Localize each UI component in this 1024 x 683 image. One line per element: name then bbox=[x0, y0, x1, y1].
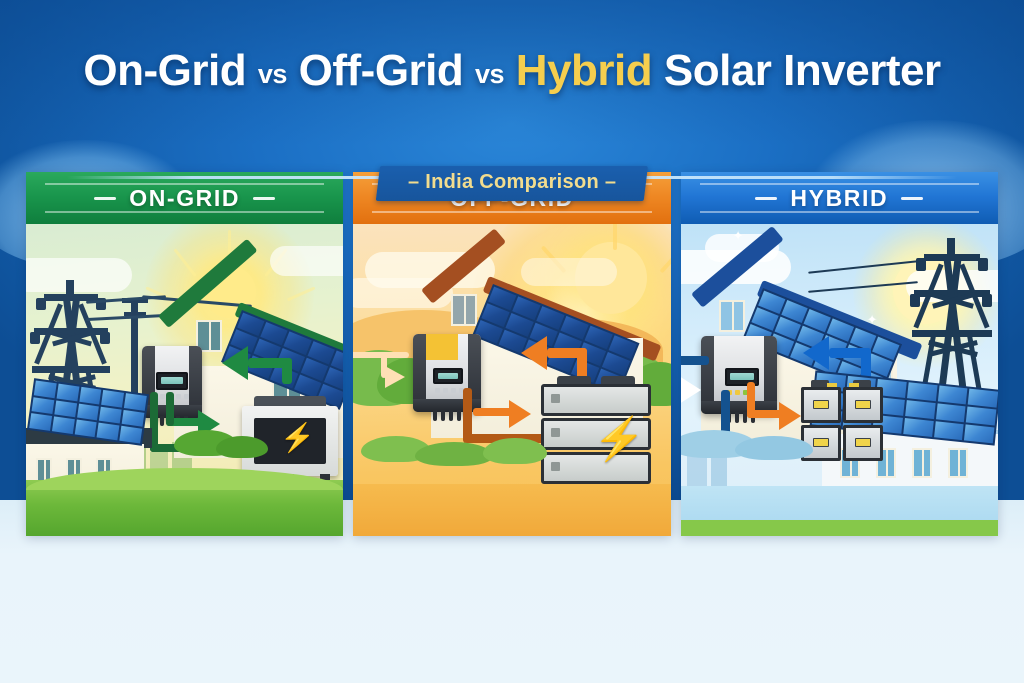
inverter-icon bbox=[701, 336, 777, 414]
flow-arrow-to-house bbox=[803, 336, 829, 370]
scene-hybrid: ✦ ✦ bbox=[681, 224, 998, 536]
title-part-off-grid: Off-Grid bbox=[299, 46, 464, 95]
banner-dash-left bbox=[755, 197, 777, 200]
title-part-vs-2: vs bbox=[475, 59, 504, 89]
lightning-bolt-icon: ⚡ bbox=[280, 424, 315, 452]
banner-dash-right bbox=[901, 197, 923, 200]
comparison-panels: ON-GRID bbox=[26, 172, 998, 536]
banner-dash-left bbox=[94, 197, 116, 200]
header: On-Grid vs Off-Grid vs Hybrid Solar Inve… bbox=[0, 48, 1024, 95]
window-icon bbox=[912, 448, 932, 478]
panel-title-on-grid: ON-GRID bbox=[129, 185, 240, 212]
title-part-vs-1: vs bbox=[258, 59, 287, 89]
panel-off-grid[interactable]: OFF-GRID bbox=[353, 172, 670, 536]
battery-stack-icon: ⚡ bbox=[541, 376, 651, 492]
title-part-solar-inverter: Solar Inverter bbox=[664, 46, 941, 95]
subtitle-text: – India Comparison – bbox=[408, 171, 616, 194]
scene-off-grid: ⚡ bbox=[353, 224, 670, 536]
panel-hybrid[interactable]: HYBRID ✦ ✦ bbox=[681, 172, 998, 536]
ground bbox=[353, 484, 670, 536]
lightning-bolt-icon: ⚡ bbox=[593, 418, 645, 460]
battery-bank-icon bbox=[801, 380, 883, 462]
panel-banner-hybrid: HYBRID bbox=[681, 172, 998, 224]
page-title: On-Grid vs Off-Grid vs Hybrid Solar Inve… bbox=[0, 48, 1024, 95]
window-icon bbox=[451, 294, 477, 326]
panel-banner-on-grid: ON-GRID bbox=[26, 172, 343, 224]
scene-on-grid: ⚡ bbox=[26, 224, 343, 536]
ground bbox=[26, 480, 343, 536]
flow-arrow-inbound bbox=[385, 366, 405, 388]
panel-title-hybrid: HYBRID bbox=[790, 185, 888, 212]
subtitle-badge: – India Comparison – bbox=[376, 166, 649, 201]
window-icon bbox=[719, 300, 745, 332]
flow-arrow-to-house bbox=[521, 336, 547, 370]
flow-arrow-to-house bbox=[222, 346, 248, 380]
infographic-canvas: On-Grid vs Off-Grid vs Hybrid Solar Inve… bbox=[0, 0, 1024, 683]
title-part-hybrid: Hybrid bbox=[516, 46, 652, 95]
sparkle-icon: ✦ bbox=[733, 228, 744, 244]
panel-on-grid[interactable]: ON-GRID bbox=[26, 172, 343, 536]
window-icon bbox=[948, 448, 968, 478]
banner-dash-right bbox=[253, 197, 275, 200]
title-part-on-grid: On-Grid bbox=[83, 46, 246, 95]
